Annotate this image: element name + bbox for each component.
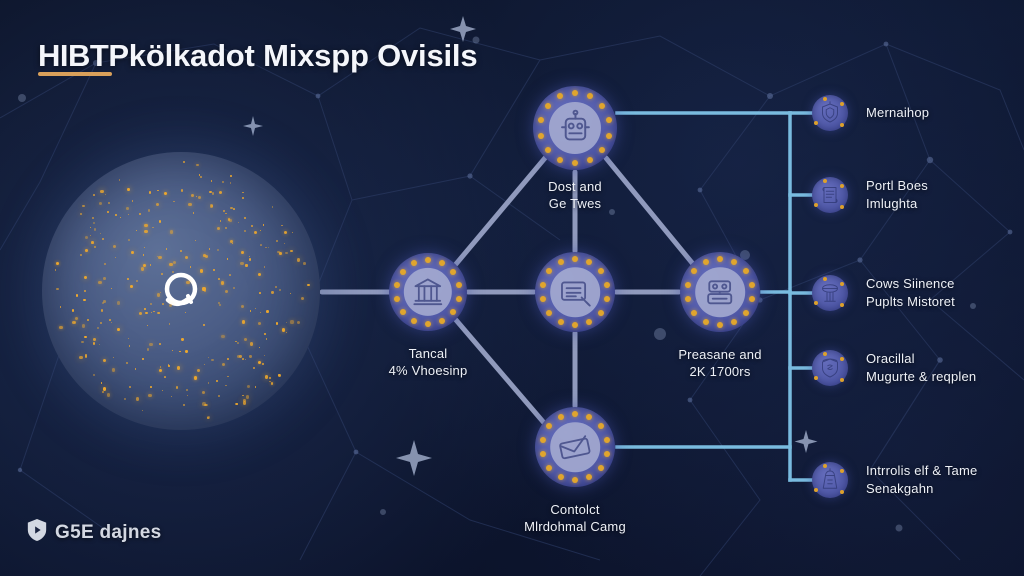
shield-play-icon: [26, 518, 48, 547]
node-ring-dot: [685, 296, 691, 302]
hub-node-label-top: Dost and Ge Twes: [480, 178, 670, 212]
node-ring-dot: [400, 309, 406, 315]
node-ring-dot: [538, 117, 544, 123]
hub-node-mid-center[interactable]: [535, 252, 615, 332]
node-ring-dot: [743, 310, 749, 316]
node-ring-dot: [545, 103, 551, 109]
node-ring-dot: [731, 319, 737, 325]
node-ring-dot: [456, 296, 462, 302]
category-node-0[interactable]: [812, 95, 848, 131]
node-ring-dot: [604, 296, 610, 302]
document-pen-icon: [550, 267, 600, 317]
hub-node-right-center[interactable]: [680, 252, 760, 332]
node-ring-dot: [840, 102, 844, 106]
node-ring-dot: [572, 411, 578, 417]
node-ring-dot: [540, 451, 546, 457]
node-ring-dot: [450, 309, 456, 315]
node-ring-dot: [586, 259, 592, 265]
machine-icon: [695, 267, 745, 317]
hub-node-label-left-center: Tancal 4% Vhoesinp: [333, 345, 523, 379]
node-ring-dot: [540, 296, 546, 302]
node-ring-dot: [840, 490, 844, 494]
robot-head-icon: [549, 102, 601, 154]
node-ring-dot: [546, 465, 552, 471]
node-ring-dot: [840, 303, 844, 307]
node-ring-dot: [743, 268, 749, 274]
node-ring-dot: [606, 133, 612, 139]
node-ring-dot: [717, 322, 723, 328]
node-ring-dot: [558, 474, 564, 480]
node-ring-dot: [840, 357, 844, 361]
node-ring-dot: [572, 322, 578, 328]
node-ring-dot: [840, 282, 844, 286]
node-ring-dot: [425, 257, 431, 263]
node-ring-dot: [598, 465, 604, 471]
hub-node-label-bottom: Contolct Mlrdohmal Camg: [480, 501, 670, 535]
node-ring-dot: [439, 260, 445, 266]
node-ring-dot: [604, 282, 610, 288]
node-ring-dot: [717, 256, 723, 262]
node-ring-dot: [411, 260, 417, 266]
node-ring-dot: [558, 259, 564, 265]
hub-node-bottom[interactable]: [535, 407, 615, 487]
hub-node-top[interactable]: [533, 86, 617, 170]
node-ring-dot: [840, 378, 844, 382]
node-ring-dot: [546, 268, 552, 274]
category-label-1: Portl Boes Imlughta: [866, 177, 1016, 213]
node-ring-dot: [703, 319, 709, 325]
node-ring-dot: [394, 282, 400, 288]
hub-node-left-center[interactable]: [389, 253, 467, 331]
node-ring-dot: [691, 268, 697, 274]
node-ring-dot: [540, 282, 546, 288]
category-node-3[interactable]: [812, 350, 848, 386]
node-ring-dot: [400, 269, 406, 275]
node-ring-dot: [572, 477, 578, 483]
category-node-2[interactable]: [812, 275, 848, 311]
watermark: G5E dajnes: [26, 518, 162, 547]
node-ring-dot: [703, 259, 709, 265]
node-ring-dot: [598, 423, 604, 429]
node-ring-dot: [546, 310, 552, 316]
node-ring-dot: [557, 93, 563, 99]
node-ring-dot: [604, 437, 610, 443]
node-ring-dot: [572, 90, 578, 96]
node-ring-dot: [411, 318, 417, 324]
node-ring-dot: [558, 319, 564, 325]
node-ring-dot: [586, 319, 592, 325]
node-ring-dot: [840, 469, 844, 473]
node-ring-dot: [586, 474, 592, 480]
node-ring-dot: [572, 160, 578, 166]
node-ring-dot: [731, 259, 737, 265]
node-ring-dot: [587, 93, 593, 99]
nodes-layer: Dost and Ge TwesTancal 4% VhoesinpPreasa…: [0, 0, 1024, 576]
node-ring-dot: [587, 157, 593, 163]
node-ring-dot: [572, 256, 578, 262]
category-node-1[interactable]: [812, 177, 848, 213]
node-ring-dot: [586, 414, 592, 420]
node-ring-dot: [685, 282, 691, 288]
diagram-canvas: HIBTPkölkadot Mixspp Ovisils Dost and Ge…: [0, 0, 1024, 576]
node-ring-dot: [598, 268, 604, 274]
category-label-4: Intrrolis elf & Tame Senakgahn: [866, 462, 1016, 498]
node-ring-dot: [606, 117, 612, 123]
node-ring-dot: [749, 296, 755, 302]
category-label-3: Oracillal Mugurte & reqplen: [866, 350, 1016, 386]
node-ring-dot: [840, 205, 844, 209]
temple-icon: [404, 268, 452, 316]
node-ring-dot: [604, 451, 610, 457]
envelope-icon: [550, 422, 600, 472]
category-node-4[interactable]: [812, 462, 848, 498]
node-ring-dot: [558, 414, 564, 420]
node-ring-dot: [599, 103, 605, 109]
node-ring-dot: [456, 282, 462, 288]
node-ring-dot: [394, 296, 400, 302]
node-ring-dot: [598, 310, 604, 316]
node-ring-dot: [439, 318, 445, 324]
category-label-0: Mernaihop: [866, 104, 1016, 122]
node-ring-dot: [840, 123, 844, 127]
node-ring-dot: [545, 147, 551, 153]
node-ring-dot: [538, 133, 544, 139]
node-ring-dot: [691, 310, 697, 316]
node-ring-dot: [540, 437, 546, 443]
node-ring-dot: [425, 321, 431, 327]
category-label-2: Cows Siinence Puplts Mistoret: [866, 275, 1016, 311]
node-ring-dot: [840, 184, 844, 188]
node-ring-dot: [599, 147, 605, 153]
node-ring-dot: [749, 282, 755, 288]
node-ring-dot: [546, 423, 552, 429]
watermark-text: G5E dajnes: [55, 522, 162, 544]
hub-node-label-right-center: Preasane and 2K 1700rs: [625, 346, 815, 380]
node-ring-dot: [557, 157, 563, 163]
node-ring-dot: [450, 269, 456, 275]
